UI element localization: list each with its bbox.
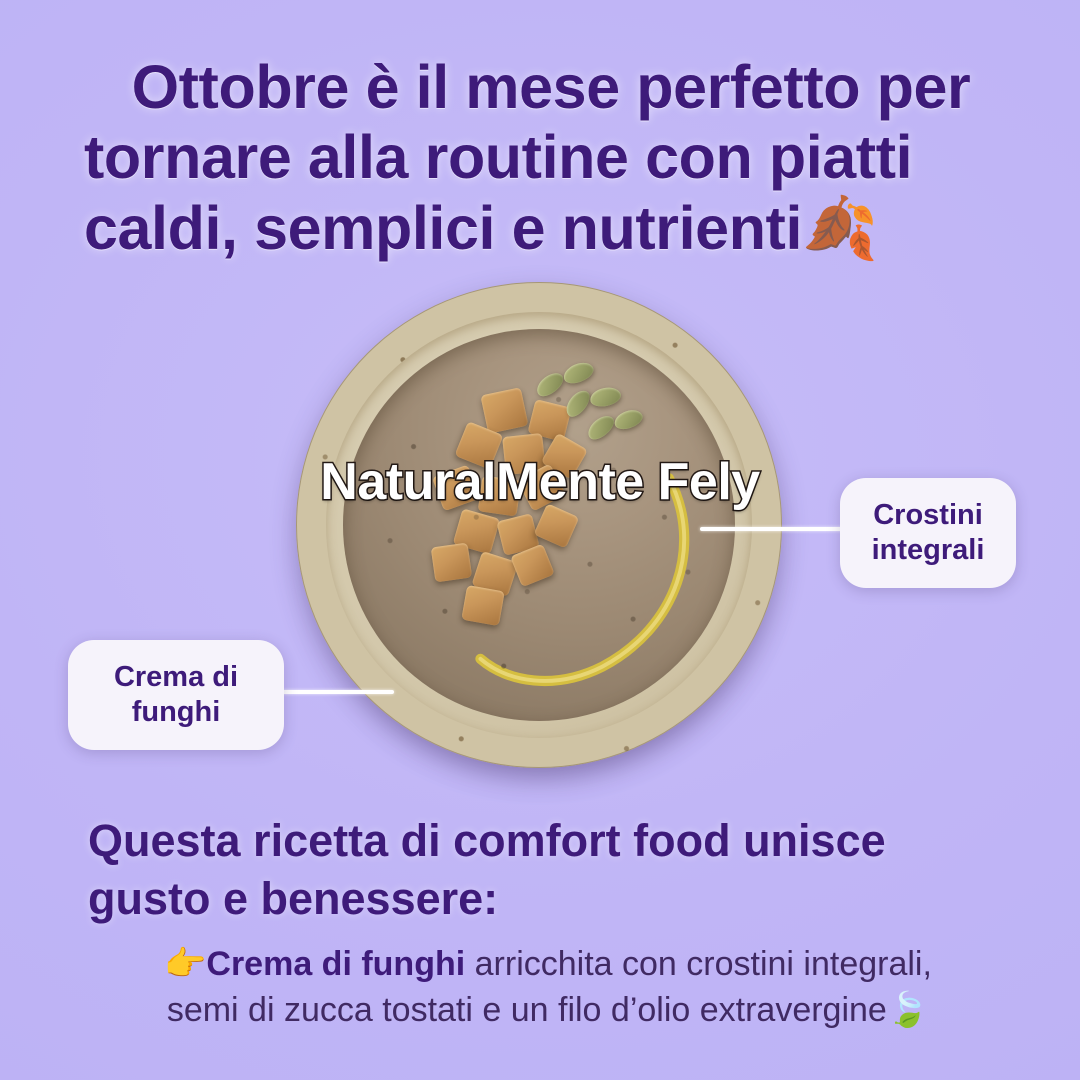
mushroom-cream-soup bbox=[343, 329, 736, 722]
crouton bbox=[478, 475, 522, 516]
section-subtitle: Questa ricetta di comfort food unisce gu… bbox=[88, 812, 1008, 927]
subhead-line-1: Questa ricetta di comfort food unisce bbox=[88, 812, 1008, 870]
headline-line-1: Ottobre è il mese perfetto per bbox=[84, 52, 996, 122]
pointing-right-emoji: 👉 bbox=[164, 944, 206, 984]
callout-crema-di-funghi[interactable]: Crema di funghi bbox=[68, 640, 284, 750]
leaf-emoji: 🍃 bbox=[887, 990, 929, 1030]
bullet-row-1: 👉Crema di funghi arricchita con crostini… bbox=[88, 942, 1008, 988]
headline-line-3: caldi, semplici e nutrienti🍂 bbox=[84, 193, 996, 264]
recipe-post-canvas: Ottobre è il mese perfetto per tornare a… bbox=[0, 0, 1080, 1080]
crouton bbox=[432, 465, 480, 512]
ceramic-bowl bbox=[296, 282, 782, 768]
crouton bbox=[431, 542, 472, 582]
bullet-bold-term: Crema di funghi bbox=[206, 945, 465, 983]
crouton bbox=[462, 585, 505, 626]
pumpkin-seed bbox=[612, 407, 645, 433]
ingredient-bullet: 👉Crema di funghi arricchita con crostini… bbox=[88, 942, 1008, 1034]
soup-photo bbox=[296, 282, 782, 768]
pumpkin-seed bbox=[584, 411, 618, 443]
pumpkin-seed bbox=[533, 368, 567, 400]
crouton bbox=[480, 388, 528, 435]
headline-line-3-text: caldi, semplici e nutrienti bbox=[84, 194, 802, 262]
crouton bbox=[534, 504, 580, 549]
bullet-rest-2: semi di zucca tostati e un filo d’olio e… bbox=[167, 991, 887, 1029]
bullet-row-2: semi di zucca tostati e un filo d’olio e… bbox=[88, 988, 1008, 1034]
subhead-line-2: gusto e benessere: bbox=[88, 870, 1008, 928]
callout-right-line-1: Crostini bbox=[873, 499, 983, 531]
page-title: Ottobre è il mese perfetto per tornare a… bbox=[84, 52, 996, 264]
connector-line-right bbox=[700, 527, 850, 531]
fallen-leaf-emoji: 🍂 bbox=[802, 193, 878, 264]
callout-right-line-2: integrali bbox=[872, 534, 985, 566]
bullet-rest-1: arricchita con crostini integrali, bbox=[465, 945, 932, 983]
connector-line-left bbox=[282, 690, 394, 694]
callout-crostini-integrali[interactable]: Crostini integrali bbox=[840, 478, 1016, 588]
pumpkin-seed bbox=[560, 359, 595, 387]
callout-left-line-2: funghi bbox=[132, 696, 221, 728]
headline-line-2: tornare alla routine con piatti bbox=[84, 122, 996, 192]
callout-left-line-1: Crema di bbox=[114, 661, 238, 693]
pumpkin-seed bbox=[588, 385, 622, 409]
